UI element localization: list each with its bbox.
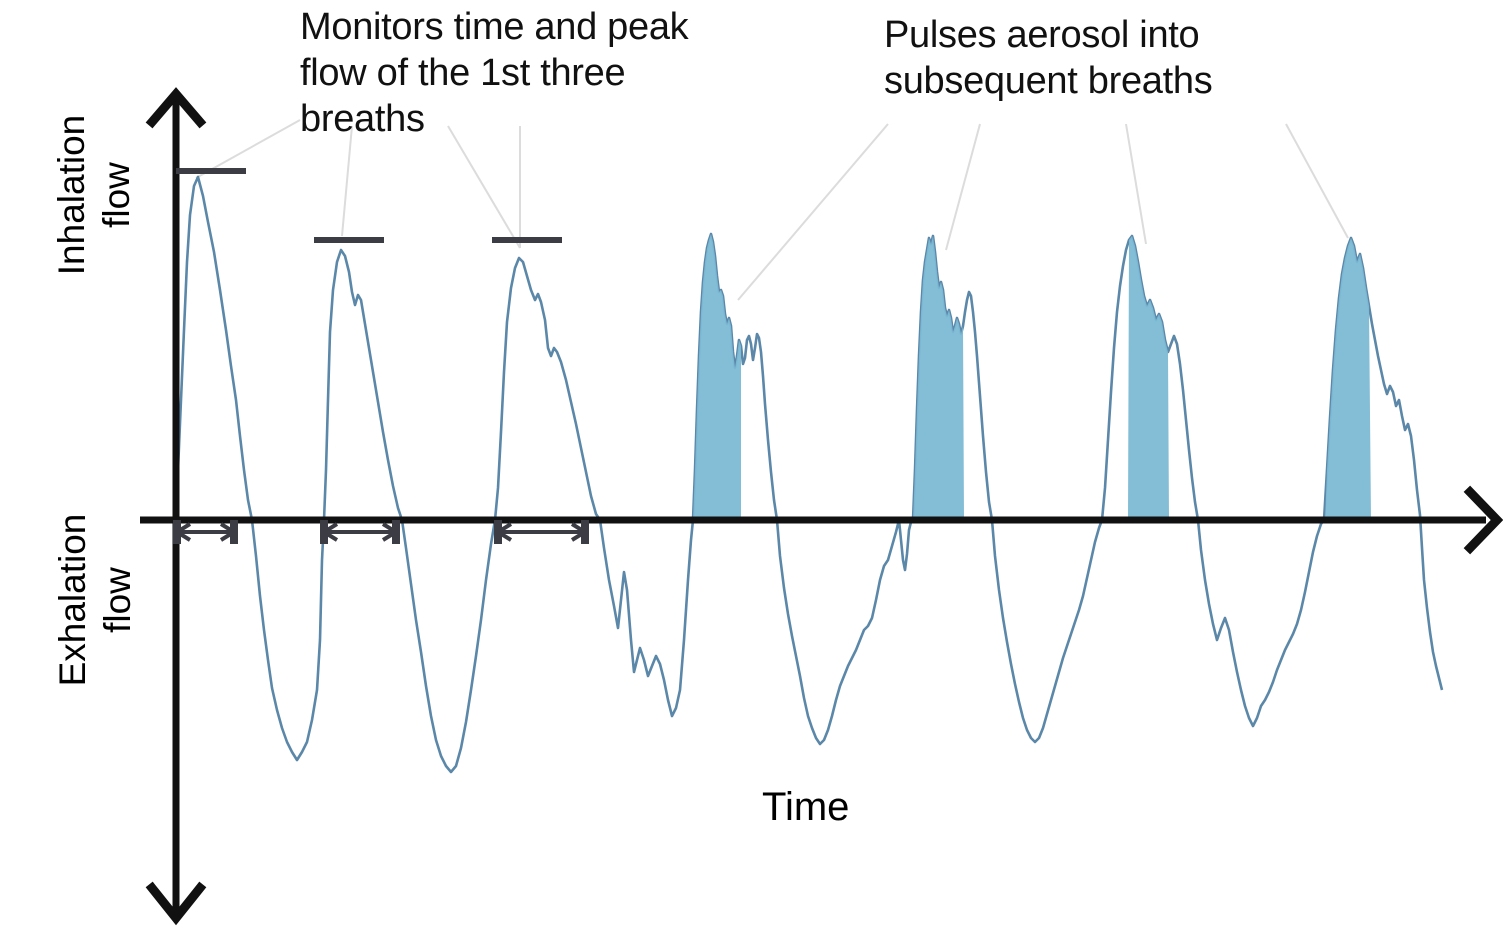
aerosol-pulse-region-3 (1128, 236, 1169, 520)
flow-trace-layer (176, 177, 1442, 772)
y-axis-label-exhalation: Exhalation flow (50, 465, 140, 735)
annotation-monitors-note: Monitors time and peak flow of the 1st t… (300, 4, 760, 142)
y-axis-label-inhalation: Inhalation flow (49, 65, 139, 325)
peak-flow-marker-layer (176, 171, 562, 240)
aerosol-pulse-region-1 (693, 234, 741, 520)
inhalation-time-arrow-2 (324, 520, 396, 544)
x-axis-label-time: Time (762, 785, 849, 830)
inhalation-time-arrow-1 (177, 520, 234, 544)
annotation-leader-lines (196, 120, 1348, 300)
flow-trace (176, 177, 1442, 772)
inhalation-time-arrow-3 (498, 520, 585, 544)
inhalation-time-marker-layer (177, 520, 585, 544)
annotation-pulses-note: Pulses aerosol into subsequent breaths (884, 12, 1284, 104)
aerosol-pulse-shading (693, 234, 1371, 520)
respiratory-flow-figure: Monitors time and peak flow of the 1st t… (0, 0, 1503, 928)
